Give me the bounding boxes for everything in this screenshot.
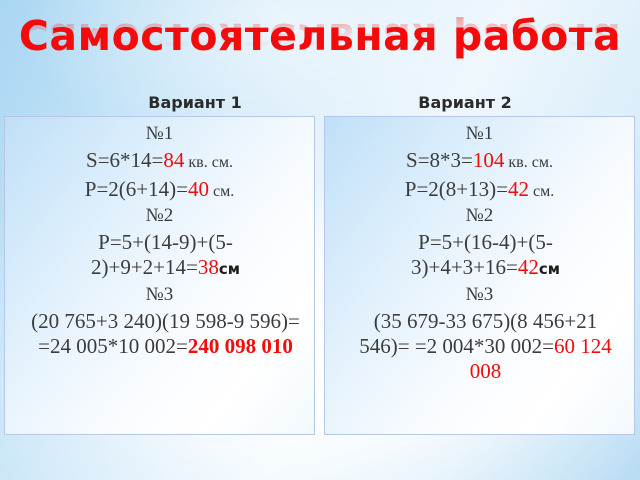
expression-unit: кв. см. bbox=[184, 154, 233, 171]
expression-unit: кв. см. bbox=[504, 154, 553, 171]
task-expression: S=6*14=84 кв. см. bbox=[13, 148, 306, 173]
task-expression: P=2(8+13)=42 см. bbox=[333, 177, 626, 202]
expression-unit: см. bbox=[529, 183, 554, 200]
task-label: №2 bbox=[13, 205, 306, 227]
expression-answer: 42 bbox=[508, 177, 529, 201]
task-expression: (20 765+3 240)(19 598-9 596)= =24 005*10… bbox=[13, 309, 306, 359]
task-expression: (35 679-33 675)(8 456+21 546)= =2 004*30… bbox=[333, 309, 626, 385]
task-expression: P=2(6+14)=40 см. bbox=[13, 177, 306, 202]
task-label: №1 bbox=[13, 123, 306, 145]
expression-unit: см bbox=[219, 260, 240, 278]
slide-title-block: Самостоятельная работа Самостоятельная р… bbox=[0, 16, 640, 99]
expression-text: P=2(6+14)= bbox=[85, 177, 188, 201]
expression-answer: 84 bbox=[163, 148, 184, 172]
task-label: №3 bbox=[333, 284, 626, 306]
expression-text: S=6*14= bbox=[86, 148, 163, 172]
page-title: Самостоятельная работа bbox=[0, 16, 640, 57]
expression-answer: 240 098 010 bbox=[188, 334, 293, 358]
variant-1-header: Вариант 1 bbox=[95, 93, 295, 112]
expression-answer: 40 bbox=[188, 177, 209, 201]
task-label: №1 bbox=[333, 123, 626, 145]
answer-table-variant-2: №1S=8*3=104 кв. см.P=2(8+13)=42 см.№2P=5… bbox=[324, 116, 635, 435]
task-expression: P=5+(14-9)+(5-2)+9+2+14=38см bbox=[13, 230, 306, 280]
expression-text: S=8*3= bbox=[406, 148, 473, 172]
variant-2-header: Вариант 2 bbox=[365, 93, 565, 112]
task-expression: S=8*3=104 кв. см. bbox=[333, 148, 626, 173]
expression-text: P=2(8+13)= bbox=[405, 177, 508, 201]
expression-answer: 104 bbox=[473, 148, 505, 172]
task-expression: P=5+(16-4)+(5-3)+4+3+16=42см bbox=[333, 230, 626, 280]
expression-answer: 42 bbox=[518, 255, 539, 279]
slide-canvas: Самостоятельная работа Самостоятельная р… bbox=[0, 0, 640, 480]
expression-answer: 38 bbox=[198, 255, 219, 279]
answer-table-variant-1: №1S=6*14=84 кв. см.P=2(6+14)=40 см.№2P=5… bbox=[4, 116, 315, 435]
task-label: №2 bbox=[333, 205, 626, 227]
expression-unit: см bbox=[539, 260, 560, 278]
task-label: №3 bbox=[13, 284, 306, 306]
expression-unit: см. bbox=[209, 183, 234, 200]
